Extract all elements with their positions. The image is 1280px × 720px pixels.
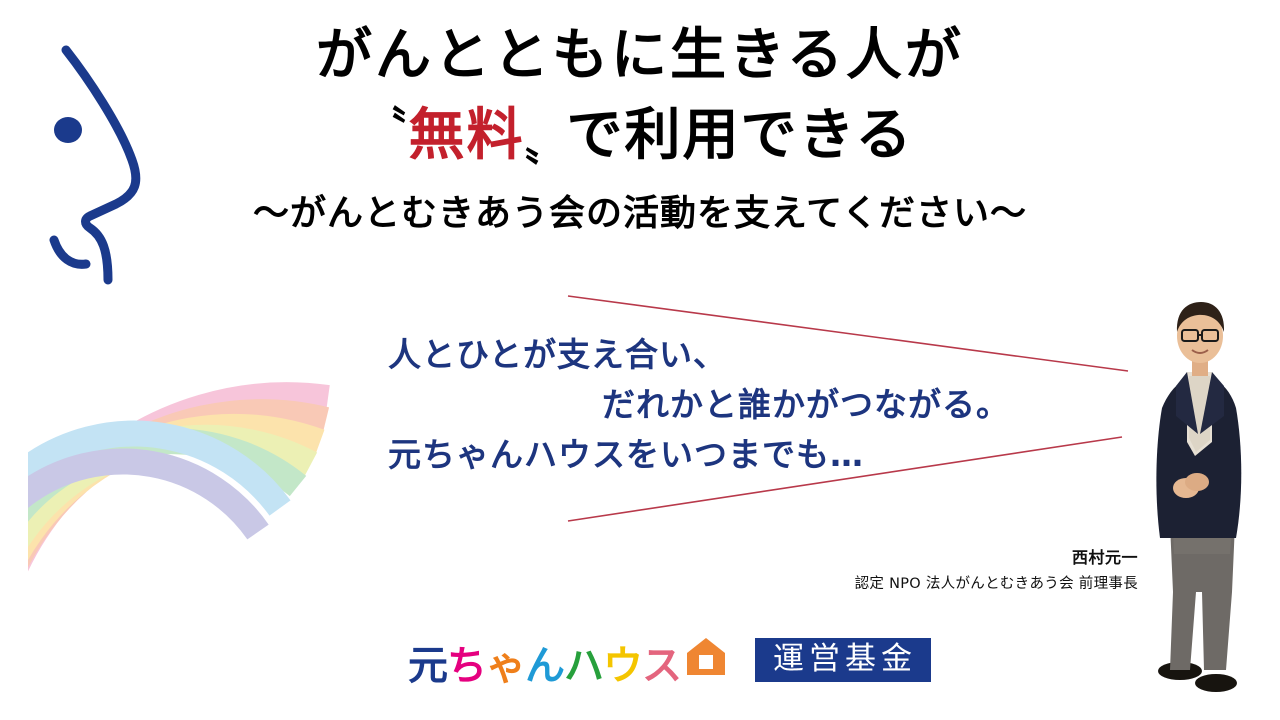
quote-line-1: 人とひとが支え合い、 (388, 330, 1088, 380)
quote-line-2: だれかと誰かがつながる。 (388, 380, 1088, 430)
logo-char-0: 元 (408, 646, 447, 686)
rainbow-arc-graphic (28, 340, 418, 720)
logo-char-5: ウ (603, 646, 642, 686)
quote-line-3: 元ちゃんハウスをいつまでも… (388, 430, 1088, 480)
headline-emphasis-free: 無料 (409, 105, 525, 167)
quote-close-mark: 〟 (525, 124, 567, 169)
attribution-name: 西村元一 (855, 546, 1138, 570)
logo-row: 元 ち ゃ ん ハ ウ ス 運営基金 (408, 632, 931, 688)
logo-char-6: ス (642, 646, 681, 686)
poster-canvas: がんとともに生きる人が 〝無料〟で利用できる 〜がんとむきあう会の活動を支えてく… (0, 0, 1280, 720)
headline-line-3: 〜がんとむきあう会の活動を支えてください〜 (240, 192, 1040, 235)
attribution-block: 西村元一 認定 NPO 法人がんとむきあう会 前理事長 (855, 546, 1138, 594)
headline-line-2-rest: で利用できる (567, 105, 914, 167)
logo-char-4: ハ (564, 646, 603, 686)
fund-badge: 運営基金 (755, 638, 931, 683)
headline-line-2: 〝無料〟で利用できる (240, 102, 1040, 172)
portrait-photo-nishimura (1140, 292, 1270, 702)
face-profile-logo-icon (28, 18, 178, 288)
headline-line-1: がんとともに生きる人が (240, 22, 1040, 90)
logo-char-2: ゃ (486, 646, 525, 686)
house-icon (685, 635, 727, 684)
motochan-house-logo: 元 ち ゃ ん ハ ウ ス (408, 635, 727, 686)
headline-block: がんとともに生きる人が 〝無料〟で利用できる 〜がんとむきあう会の活動を支えてく… (240, 22, 1040, 235)
logo-char-1: ち (447, 646, 486, 686)
attribution-role: 認定 NPO 法人がんとむきあう会 前理事長 (855, 574, 1138, 594)
logo-char-3: ん (525, 646, 564, 686)
quote-open-mark: 〝 (367, 104, 409, 149)
quote-block: 人とひとが支え合い、 だれかと誰かがつながる。 元ちゃんハウスをいつまでも… (388, 330, 1088, 480)
